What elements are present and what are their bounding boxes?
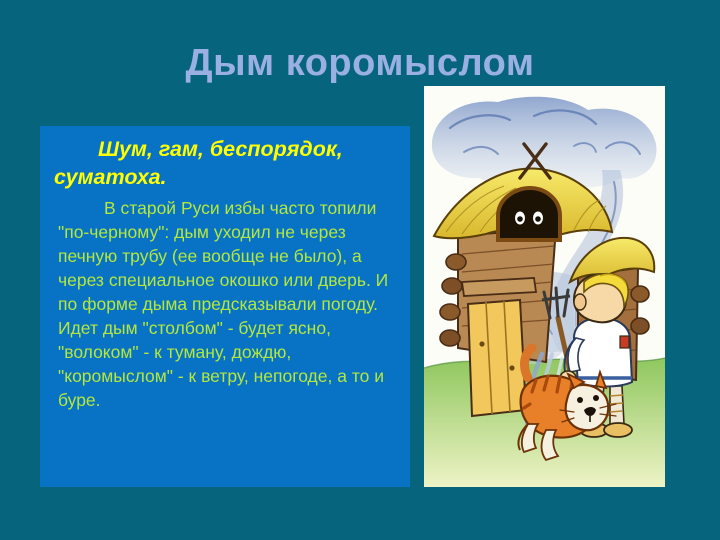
illustration-image — [424, 86, 665, 487]
text-panel: Шум, гам, беспорядок, суматоха. В старой… — [40, 126, 410, 487]
hut-and-cat-illustration — [424, 86, 665, 487]
wooden-door — [468, 300, 526, 416]
hut-window-eyes — [498, 188, 560, 240]
presentation-slide: Дым коромыслом Шум, гам, беспорядок, сум… — [0, 0, 720, 540]
idiom-definition: Шум, гам, беспорядок, суматоха. — [54, 136, 398, 191]
idiom-explanation: В старой Руси избы часто топили "по-черн… — [54, 197, 398, 413]
page-title: Дым коромыслом — [0, 44, 720, 84]
